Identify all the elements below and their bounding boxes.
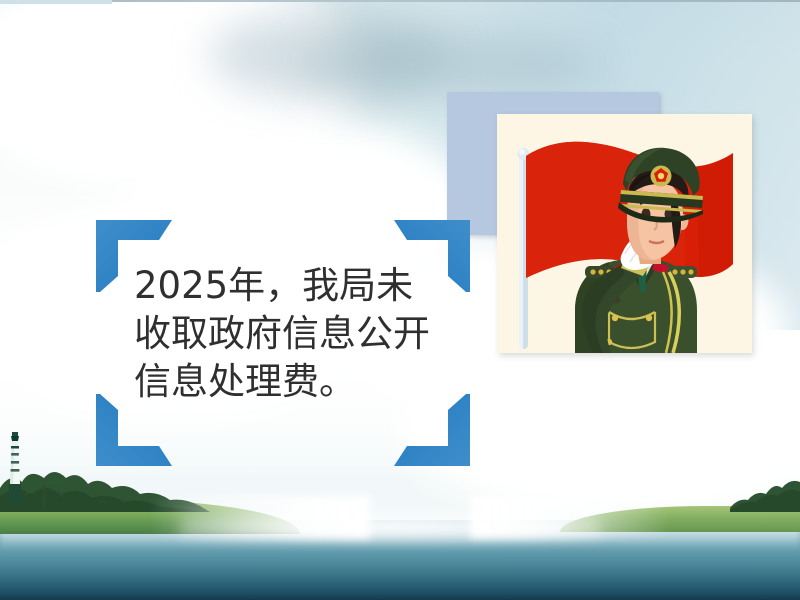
slide-body-text: 2025年，我局未收取政府信息公开信息处理费。	[134, 262, 434, 406]
soldier-saluting-red-flag-illustration	[497, 114, 752, 353]
treeline-right-icon	[730, 478, 800, 512]
presentation-slide: 2025年，我局未收取政府信息公开信息处理费。	[0, 0, 800, 600]
top-left-accent-bar	[0, 0, 112, 4]
top-divider-line	[0, 0, 800, 2]
water-haze	[180, 512, 600, 542]
cloud-shadow-shape	[300, 30, 600, 100]
lighthouse-icon	[4, 432, 26, 504]
